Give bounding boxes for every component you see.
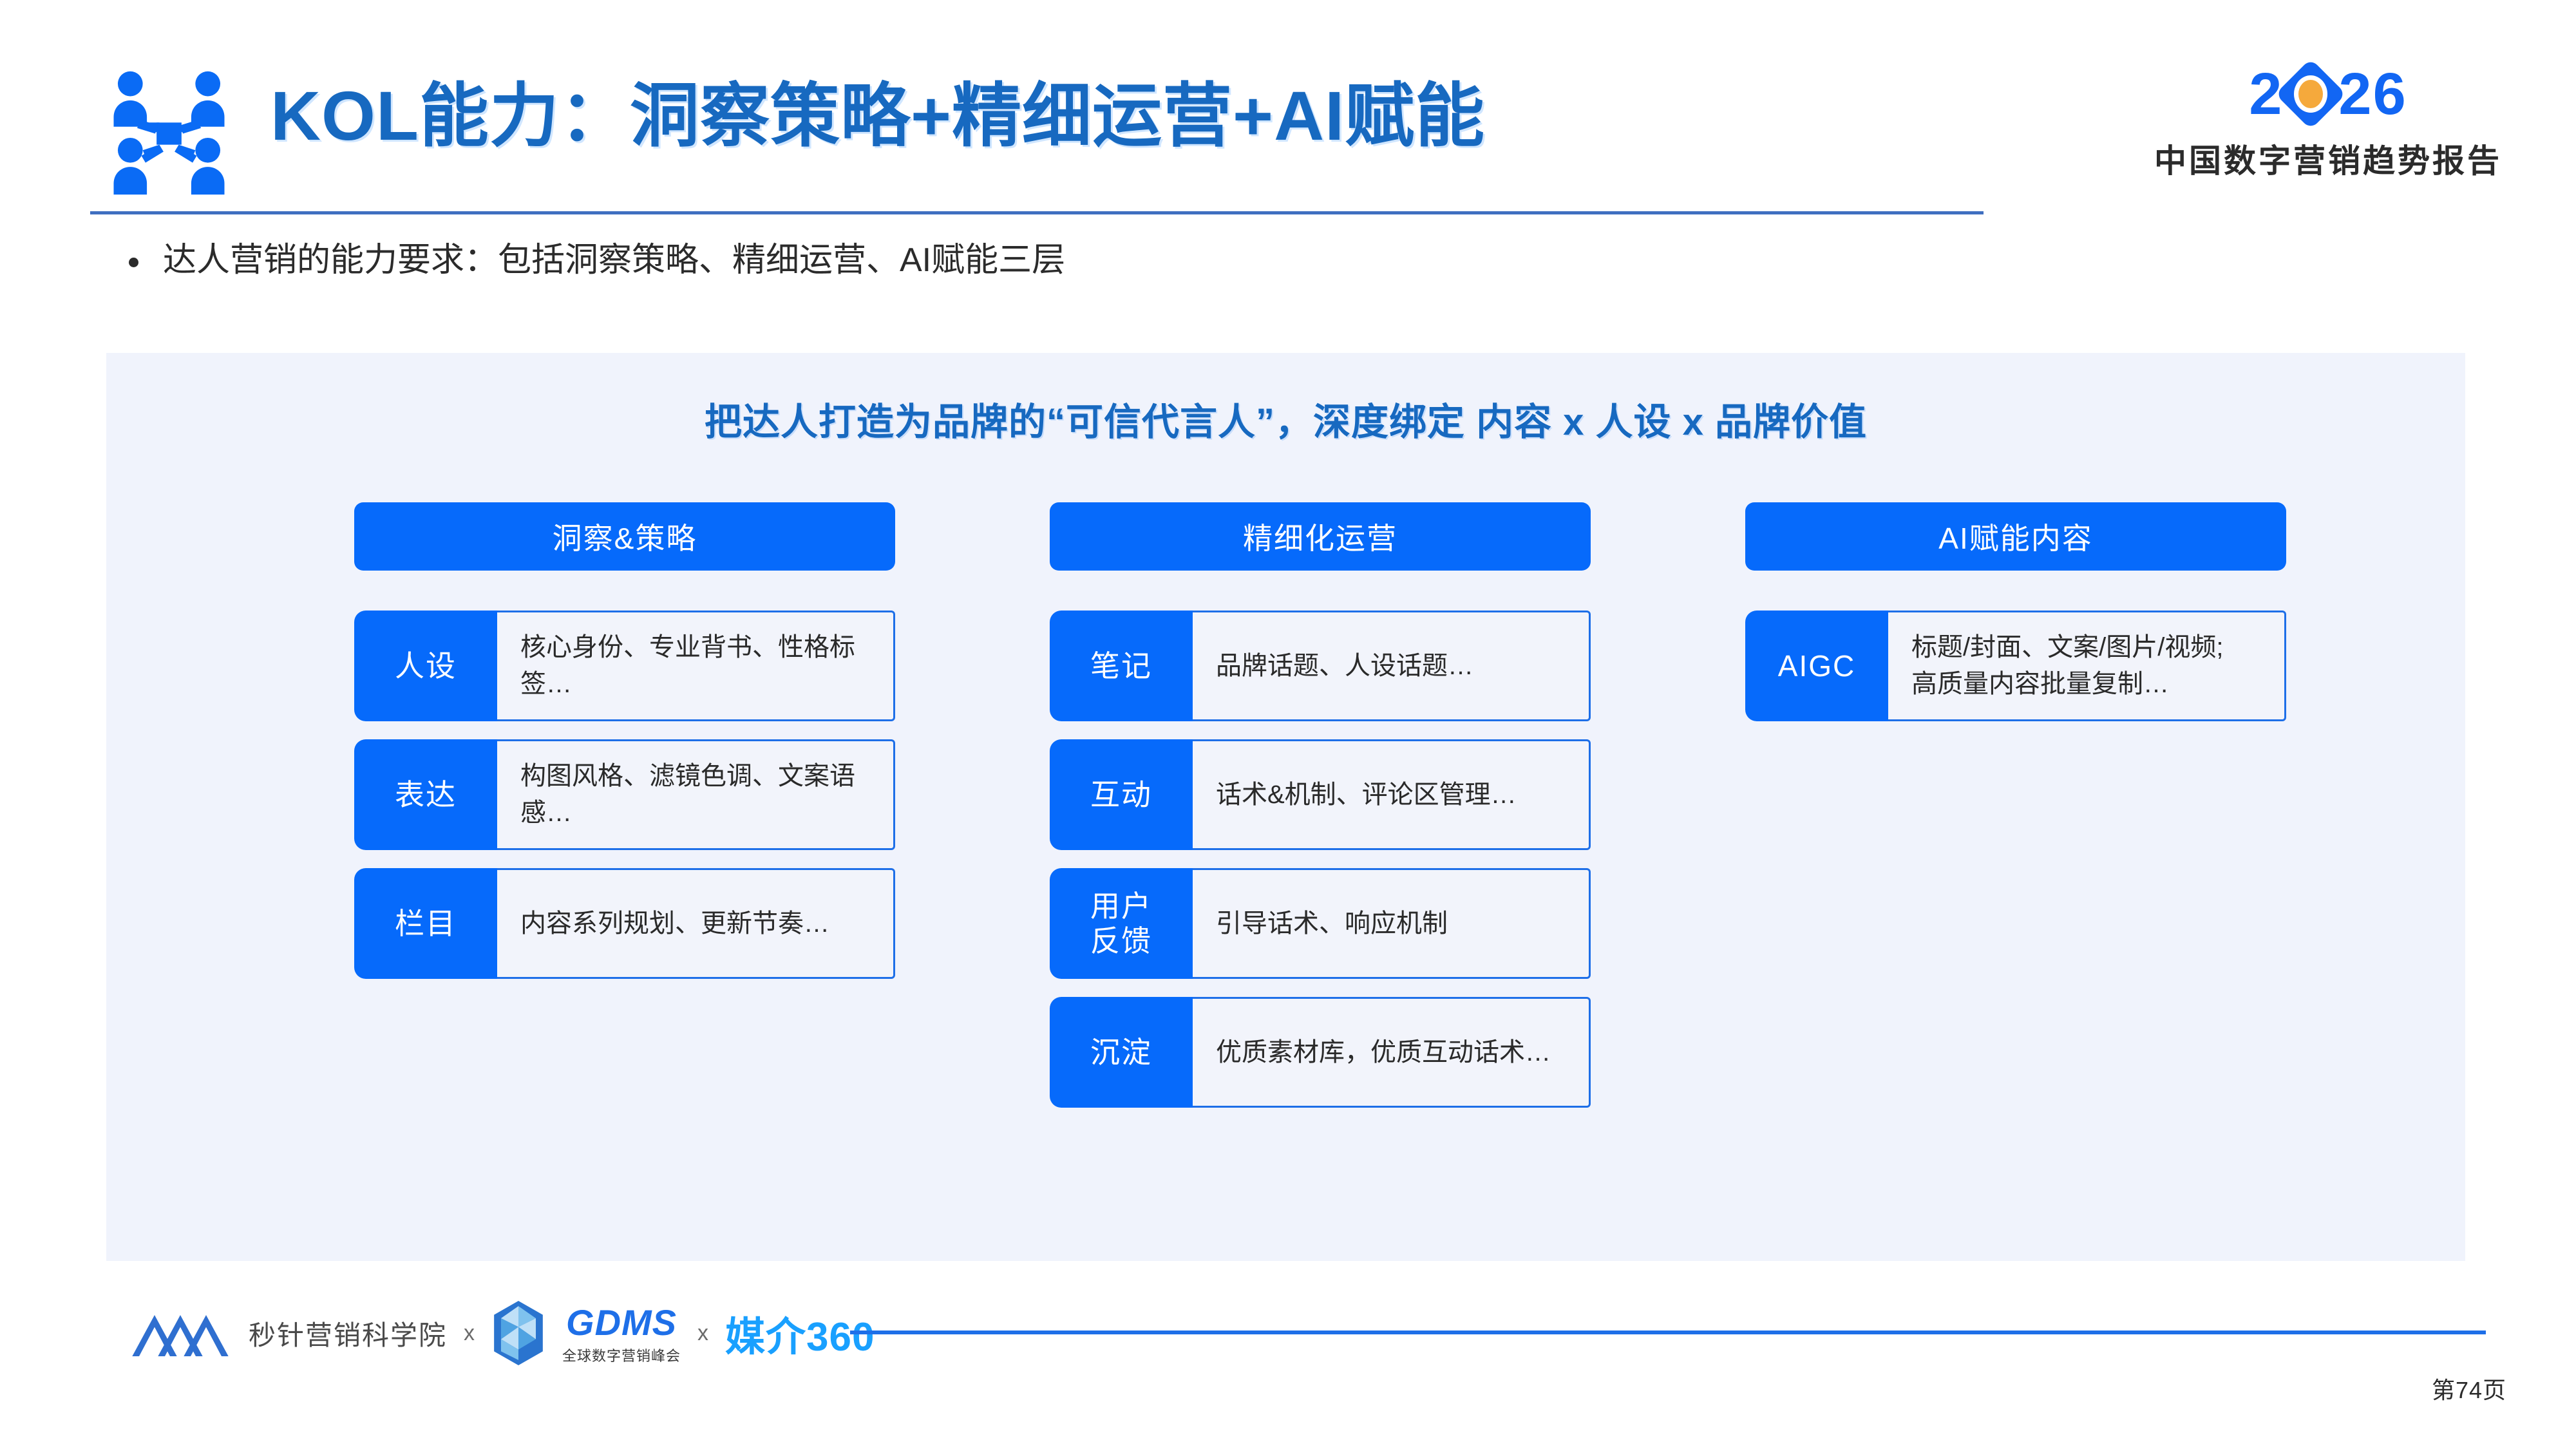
column-header: 洞察&策略 xyxy=(354,502,895,571)
row-description: 内容系列规划、更新节奏… xyxy=(497,868,895,979)
gdms-subtitle: 全球数字营销峰会 xyxy=(562,1345,681,1365)
bullet-line: 达人营销的能力要求：包括洞察策略、精细运营、AI赋能三层 xyxy=(129,237,1065,284)
column-rows: AIGC 标题/封面、文案/图片/视频;高质量内容批量复制… xyxy=(1745,611,2286,721)
bullet-dot-icon xyxy=(129,258,138,267)
row-description: 构图风格、滤镜色调、文案语感… xyxy=(497,739,895,850)
list-item[interactable]: 沉淀 优质素材库，优质互动话术… xyxy=(1050,997,1591,1108)
row-label: 用户反馈 xyxy=(1050,868,1193,979)
footer-separator-2: x xyxy=(697,1321,708,1346)
column-rows: 人设 核心身份、专业背书、性格标签… 表达 构图风格、滤镜色调、文案语感… 栏目… xyxy=(354,611,895,979)
column-refined-operation: 精细化运营 笔记 品牌话题、人设话题… 互动 话术&机制、评论区管理… 用户反馈… xyxy=(1050,502,1591,1108)
report-subtitle: 中国数字营销趋势报告 xyxy=(2148,135,2508,182)
report-logo: 2 26 中国数字营销趋势报告 xyxy=(2148,64,2508,182)
column-header: 精细化运营 xyxy=(1050,502,1591,571)
row-label: 栏目 xyxy=(354,868,497,979)
row-label: AIGC xyxy=(1745,611,1888,721)
list-item[interactable]: 互动 话术&机制、评论区管理… xyxy=(1050,739,1591,850)
miaozhen-logo-icon xyxy=(129,1305,232,1361)
row-label: 人设 xyxy=(354,611,497,721)
column-rows: 笔记 品牌话题、人设话题… 互动 话术&机制、评论区管理… 用户反馈 引导话术、… xyxy=(1050,611,1591,1108)
row-description: 优质素材库，优质互动话术… xyxy=(1193,997,1591,1108)
row-description: 核心身份、专业背书、性格标签… xyxy=(497,611,895,721)
row-description: 标题/封面、文案/图片/视频;高质量内容批量复制… xyxy=(1888,611,2286,721)
gdms-wordmark: GDMS xyxy=(566,1302,677,1343)
gdms-logo-text: GDMS 全球数字营销峰会 xyxy=(562,1302,681,1365)
content-panel: 把达人打造为品牌的“可信代言人”，深度绑定 内容 x 人设 x 品牌价值 洞察&… xyxy=(106,353,2465,1261)
column-insight-strategy: 洞察&策略 人设 核心身份、专业背书、性格标签… 表达 构图风格、滤镜色调、文案… xyxy=(354,502,895,979)
list-item[interactable]: 表达 构图风格、滤镜色调、文案语感… xyxy=(354,739,895,850)
row-label: 互动 xyxy=(1050,739,1193,850)
title-underline xyxy=(90,211,1984,214)
row-label: 表达 xyxy=(354,739,497,850)
column-ai-content: AI赋能内容 AIGC 标题/封面、文案/图片/视频;高质量内容批量复制… xyxy=(1745,502,2286,721)
row-description: 话术&机制、评论区管理… xyxy=(1193,739,1591,850)
gdms-logo-icon xyxy=(491,1301,545,1365)
slide-header: KOL能力：洞察策略+精细运营+AI赋能 2 26 中国数字营销趋势报告 xyxy=(0,0,2576,232)
row-description: 引导话术、响应机制 xyxy=(1193,868,1591,979)
row-description: 品牌话题、人设话题… xyxy=(1193,611,1591,721)
list-item[interactable]: 笔记 品牌话题、人设话题… xyxy=(1050,611,1591,721)
column-header: AI赋能内容 xyxy=(1745,502,2286,571)
list-item[interactable]: 人设 核心身份、专业背书、性格标签… xyxy=(354,611,895,721)
people-network-icon xyxy=(100,64,238,203)
panel-headline: 把达人打造为品牌的“可信代言人”，深度绑定 内容 x 人设 x 品牌价值 xyxy=(106,392,2465,446)
year-digits-right: 26 xyxy=(2338,64,2407,124)
list-item[interactable]: 用户反馈 引导话术、响应机制 xyxy=(1050,868,1591,979)
footer-separator-1: x xyxy=(464,1321,475,1346)
list-item[interactable]: AIGC 标题/封面、文案/图片/视频;高质量内容批量复制… xyxy=(1745,611,2286,721)
footer-logo-group: 秒针营销科学院 x GDMS 全球数字营销峰会 x 媒介360 xyxy=(129,1301,875,1365)
row-label: 笔记 xyxy=(1050,611,1193,721)
page-number: 第74页 xyxy=(2432,1372,2506,1405)
report-year: 2 26 xyxy=(2148,64,2508,124)
page-title: KOL能力：洞察策略+精细运营+AI赋能 xyxy=(270,71,1485,161)
row-label: 沉淀 xyxy=(1050,997,1193,1108)
list-item[interactable]: 栏目 内容系列规划、更新节奏… xyxy=(354,868,895,979)
logo-eye-icon xyxy=(2286,69,2336,119)
bullet-text: 达人营销的能力要求：包括洞察策略、精细运营、AI赋能三层 xyxy=(163,237,1065,284)
slide-footer: 秒针营销科学院 x GDMS 全球数字营销峰会 x 媒介360 第74页 xyxy=(0,1275,2576,1449)
miaozhen-name: 秒针营销科学院 xyxy=(249,1314,447,1353)
footer-divider xyxy=(850,1331,2486,1334)
